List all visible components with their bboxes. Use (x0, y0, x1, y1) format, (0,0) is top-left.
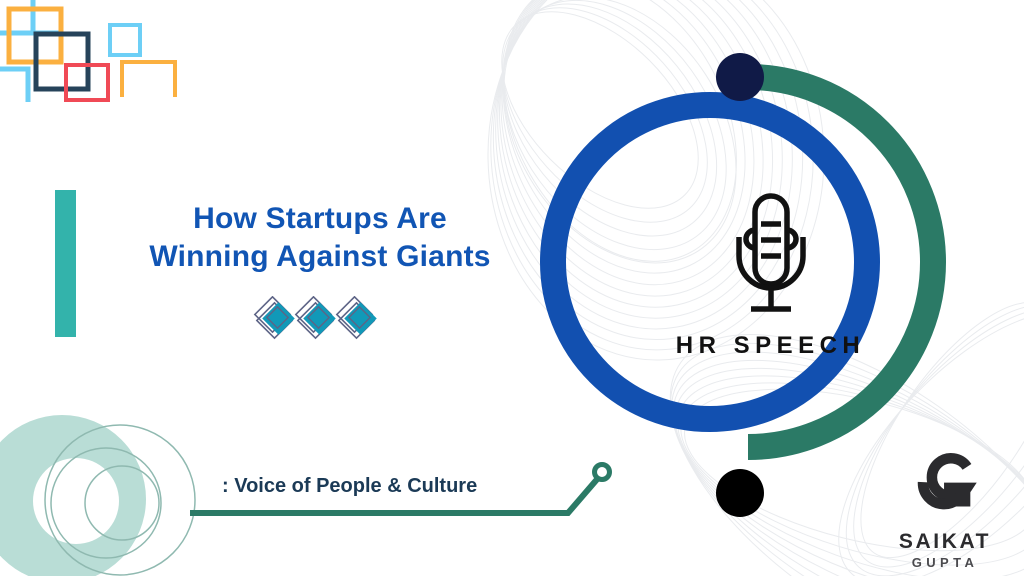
page-title: How Startups Are Winning Against Giants (105, 200, 535, 277)
slide-canvas: How Startups Are Winning Against Giants (0, 0, 1024, 576)
saikat-gupta-logo: SAIKAT GUPTA (880, 442, 1010, 570)
accent-bar (55, 190, 76, 337)
square-orange-open (122, 62, 175, 97)
title-line-2: Winning Against Giants (105, 238, 535, 276)
square-lightblue-small (110, 25, 140, 55)
sg-monogram-icon (902, 442, 988, 528)
subtitle-line-endpoint (595, 465, 610, 480)
decorative-squares-group (0, 0, 200, 110)
dot-black-bottom (716, 469, 764, 517)
dot-navy-top (716, 53, 764, 101)
circle-filled-teal (0, 415, 146, 576)
decorative-circles-group (0, 415, 215, 576)
title-line-1: How Startups Are (105, 200, 535, 238)
brand-name: HR SPEECH (676, 332, 866, 360)
line-lightblue-corner (0, 69, 28, 102)
diamond-divider (250, 296, 390, 344)
microphone-icon (723, 190, 819, 318)
brand-content: HR SPEECH (648, 190, 893, 390)
subtitle: : Voice of People & Culture (222, 475, 477, 498)
logo-subname: GUPTA (912, 555, 979, 570)
logo-name: SAIKAT (899, 530, 991, 554)
